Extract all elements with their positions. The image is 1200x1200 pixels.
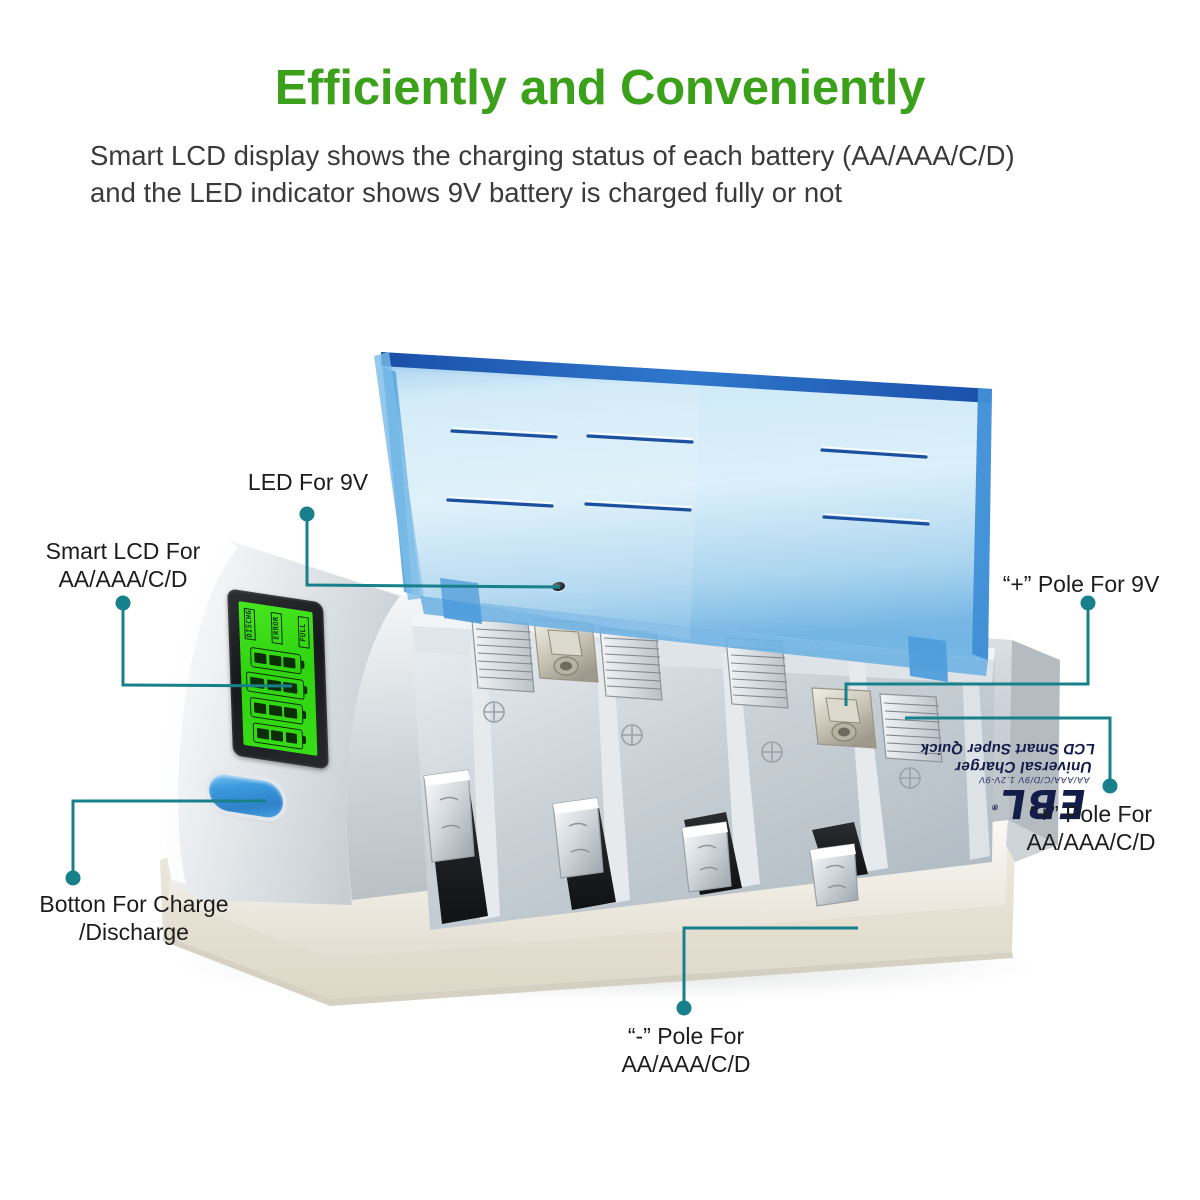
infographic-canvas: Efficiently and Conveniently Smart LCD d… [0,0,1200,1200]
lcd-battery-icon-1 [250,647,302,675]
smart-lcd-display: DISCHG ERROR FULL [227,588,329,769]
lcd-battery-icon-4 [253,722,304,750]
minus-pole-contact-4 [810,844,858,906]
lcd-battery-icons [244,646,313,752]
lid-title-line-1: Universal Charger [916,757,1093,775]
callout-label-led-9v: LED For 9V [178,468,438,496]
minus-pole-contact-2 [553,798,603,878]
minus-pole-contact-1 [424,770,474,862]
lcd-status-tags: DISCHG ERROR FULL [244,608,310,652]
callout-label-plus-pole-9v: “+” Pole For 9V [965,570,1197,598]
lcd-tag-full: FULL [298,616,310,649]
lid-spec-line: AA/AAA/C/D/9V 1.2V-9V [915,775,1091,785]
lcd-battery-icon-3 [250,697,303,725]
lcd-battery-icon-2 [246,671,305,700]
nine-volt-connector-2 [812,688,876,748]
callout-label-minus-pole-aa: “-” Pole For AA/AAA/C/D [562,1022,810,1078]
lcd-tag-error: ERROR [271,612,283,645]
minus-pole-contact-3 [682,822,731,892]
lcd-screen: DISCHG ERROR FULL [239,601,318,756]
callout-label-smart-lcd: Smart LCD For AA/AAA/C/D [8,537,238,593]
lid-title-line-2: LCD Smart Super Quick [919,740,1096,757]
plus-pole-contact-2 [600,629,662,700]
callout-label-plus-pole-aa: “+” Pole For AA/AAA/C/D [985,800,1197,856]
plus-pole-contact-1 [472,620,534,692]
lcd-tag-discharge: DISCHG [244,608,256,641]
lid-branding-wrap: EBL® AA/AAA/C/D/9V 1.2V-9V Universal Cha… [540,360,960,560]
battery-charger-illustration [0,0,1200,1200]
callout-label-button-charge: Botton For Charge /Discharge [0,890,268,946]
